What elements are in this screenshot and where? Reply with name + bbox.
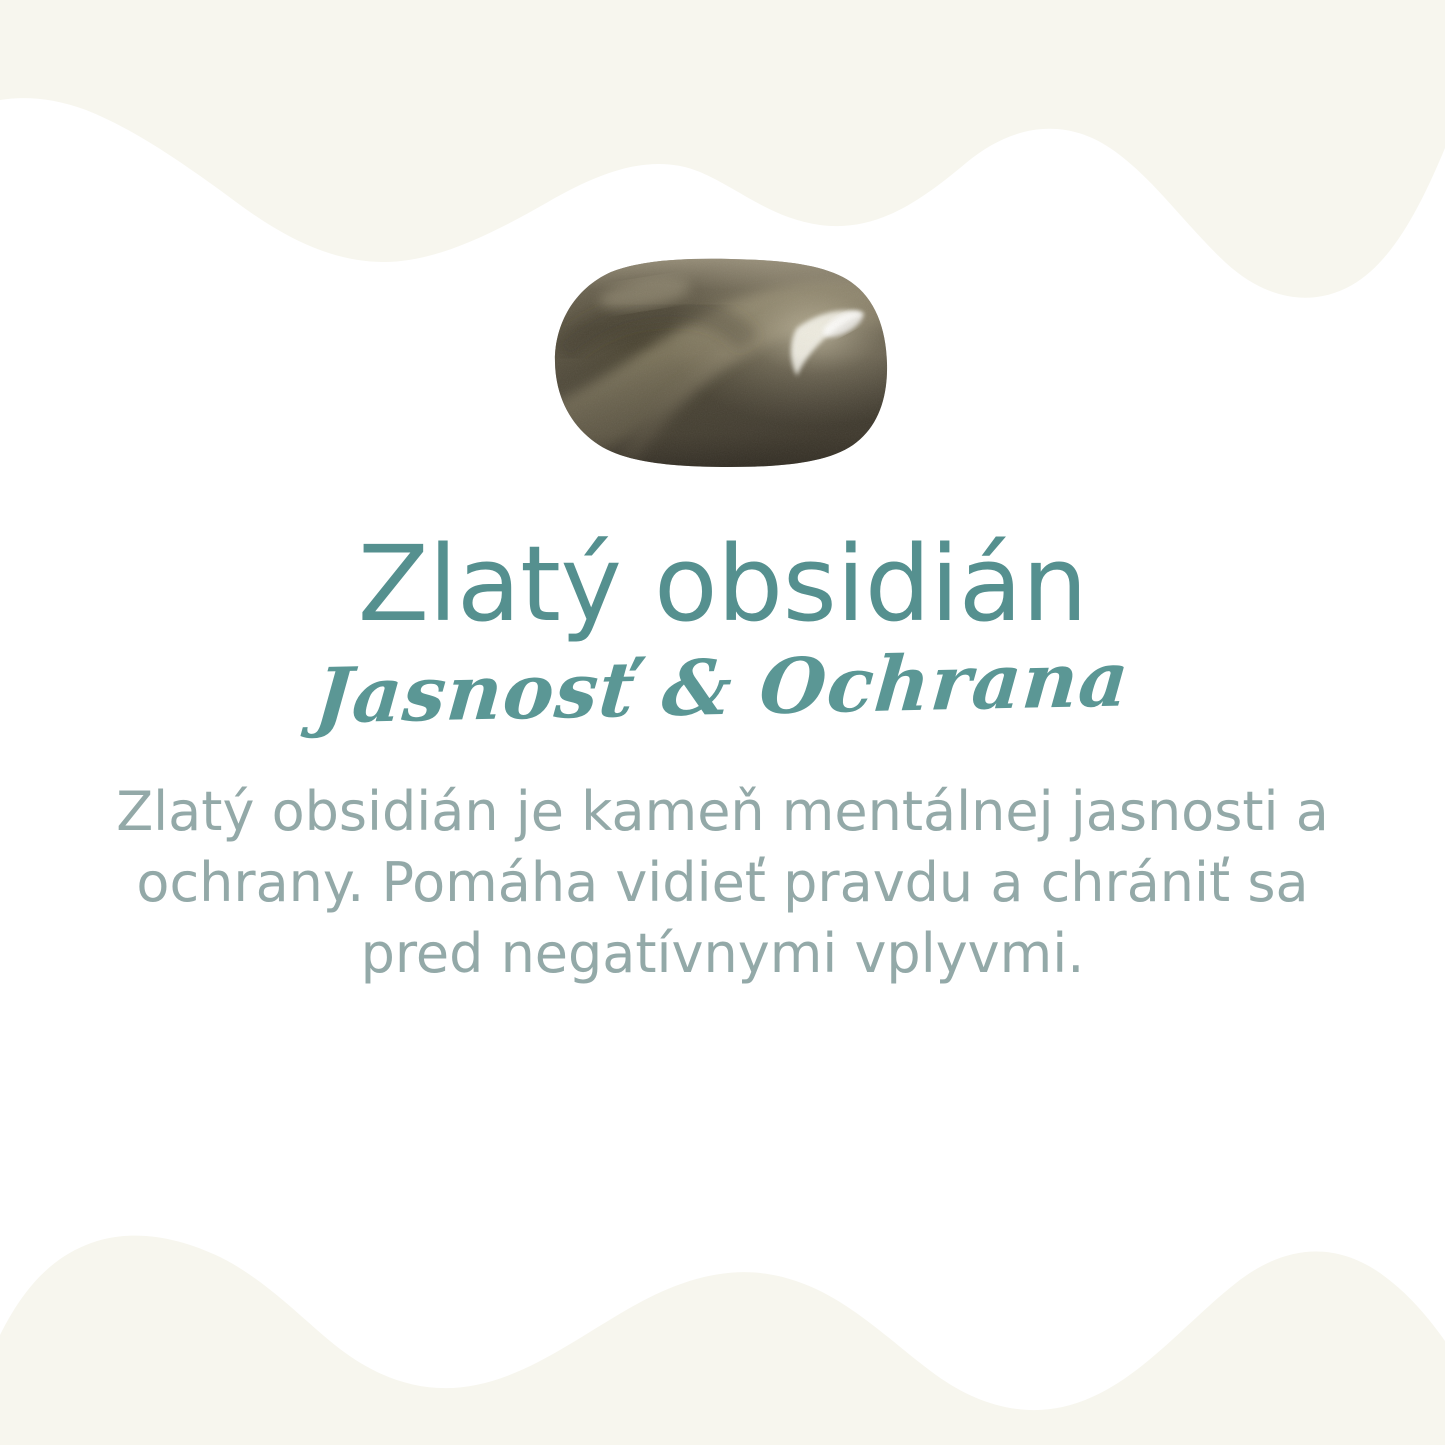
text-content: Zlatý obsidián Jasnosť & Ochrana Zlatý o… <box>0 528 1445 990</box>
subtitle-script: Jasnosť & Ochrana <box>0 631 1445 745</box>
crystal-info-card: Zlatý obsidián Jasnosť & Ochrana Zlatý o… <box>0 0 1445 1445</box>
bottom-cream-wave <box>0 1145 1445 1445</box>
stone-image <box>553 258 889 468</box>
description-text: Zlatý obsidián je kameň mentálnej jasnos… <box>70 776 1375 990</box>
page-title: Zlatý obsidián <box>0 528 1445 640</box>
bottom-wave-shape <box>0 1145 1445 1445</box>
tumbled-obsidian-stone <box>553 258 889 468</box>
